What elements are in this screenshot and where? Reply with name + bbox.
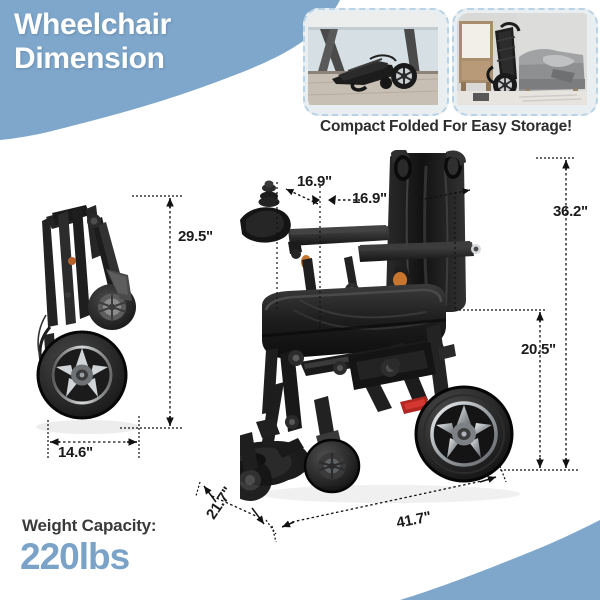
weight-capacity-value: 220lbs [20,536,129,578]
weight-capacity-label: Weight Capacity: [22,516,156,536]
title-line-1: Wheelchair [14,8,304,42]
inset-photo-under-desk [303,8,449,116]
infographic-page: Wheelchair Dimension [0,0,600,600]
title-line-2: Dimension [14,42,304,76]
inset-photo-under-desk-image [308,13,444,111]
folded-wheelchair-side-view [28,195,168,445]
dimension-depth: 21.7" [203,484,237,522]
inset-photo-beside-sofa [452,8,598,116]
page-title: Wheelchair Dimension [14,8,304,75]
dimension-armrest-left: 16.9" [297,173,332,190]
blue-corner-shape [400,520,600,600]
dimension-seat-height: 20.5" [521,341,556,358]
dimension-folded-width: 14.6" [58,444,93,461]
dimension-overall-height: 36.2" [553,203,588,220]
dimension-armrest-right: 16.9" [352,190,387,207]
inset-photo-beside-sofa-image [457,13,593,111]
inset-caption: Compact Folded For Easy Storage! [300,118,592,136]
dimension-folded-height: 29.5" [178,228,213,245]
